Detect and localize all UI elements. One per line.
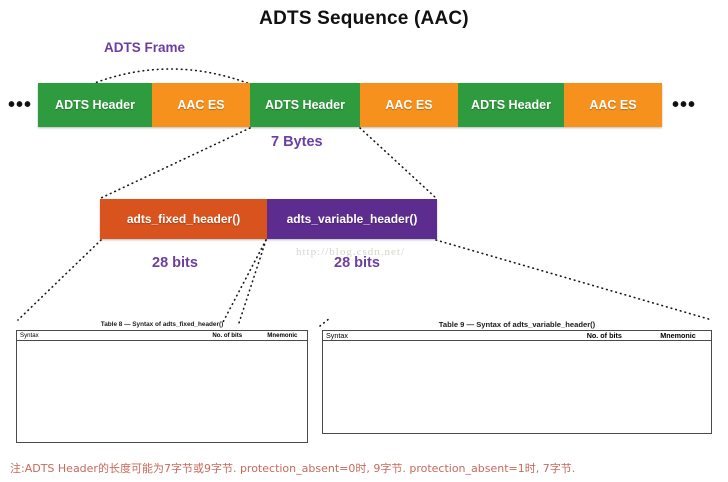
adts-frame-label: ADTS Frame (104, 40, 185, 55)
sequence-ellipsis-left: ••• (8, 95, 32, 115)
sequence-ellipsis-right: ••• (672, 95, 696, 115)
table9-col-mnemonic: Mnemonic (645, 331, 711, 341)
header-split-cell-label: adts_variable_header() (287, 212, 418, 226)
header-split-cell-fixed: adts_fixed_header() (100, 199, 267, 239)
table9-caption: Table 9 — Syntax of adts_variable_header… (322, 320, 712, 329)
adts-header-split-row: adts_fixed_header()adts_variable_header(… (100, 199, 437, 239)
header-split-cell-variable: adts_variable_header() (267, 199, 437, 239)
sequence-cell-hdr-4: ADTS Header (458, 83, 564, 127)
sequence-cell-label: AAC ES (589, 98, 636, 112)
table9-col-bits: No. of bits (564, 331, 645, 341)
sequence-cell-es-3: AAC ES (360, 83, 458, 127)
table8-col-bits: No. of bits (197, 331, 258, 341)
sequence-cell-label: ADTS Header (471, 98, 551, 112)
fixed-header-bits-label: 28 bits (152, 255, 198, 271)
sequence-cell-label: ADTS Header (265, 98, 345, 112)
sequence-cell-label: ADTS Header (55, 98, 135, 112)
header-split-cell-label: adts_fixed_header() (127, 212, 240, 226)
sequence-cell-es-1: AAC ES (152, 83, 250, 127)
diagram-canvas: ADTS Sequence (AAC) ADTS Frame ••• ••• A… (0, 0, 728, 482)
table8: Syntax No. of bits Mnemonic (17, 331, 307, 341)
table8-col-syntax: Syntax (17, 331, 197, 341)
sequence-cell-hdr-0: ADTS Header (38, 83, 152, 127)
table9-box: Syntax No. of bits Mnemonic (322, 330, 712, 434)
watermark-text: http://blog.csdn.net/ (296, 246, 405, 258)
table9-header-row: Syntax No. of bits Mnemonic (323, 331, 711, 341)
table8-header-row: Syntax No. of bits Mnemonic (17, 331, 307, 341)
table9-col-syntax: Syntax (323, 331, 564, 341)
sequence-cell-label: AAC ES (177, 98, 224, 112)
sequence-cell-hdr-2: ADTS Header (250, 83, 360, 127)
seven-bytes-label: 7 Bytes (271, 134, 323, 150)
sequence-cell-label: AAC ES (385, 98, 432, 112)
table9: Syntax No. of bits Mnemonic (323, 331, 711, 341)
table8-box: Syntax No. of bits Mnemonic (16, 330, 308, 443)
sequence-cell-es-5: AAC ES (564, 83, 662, 127)
footnote-text: 注:ADTS Header的长度可能为7字节或9字节. protection_a… (10, 460, 575, 476)
adts-sequence-row: ADTS HeaderAAC ESADTS HeaderAAC ESADTS H… (38, 83, 662, 127)
table8-caption: Table 8 — Syntax of adts_fixed_header() (16, 321, 308, 328)
table8-col-mnemonic: Mnemonic (258, 331, 307, 341)
